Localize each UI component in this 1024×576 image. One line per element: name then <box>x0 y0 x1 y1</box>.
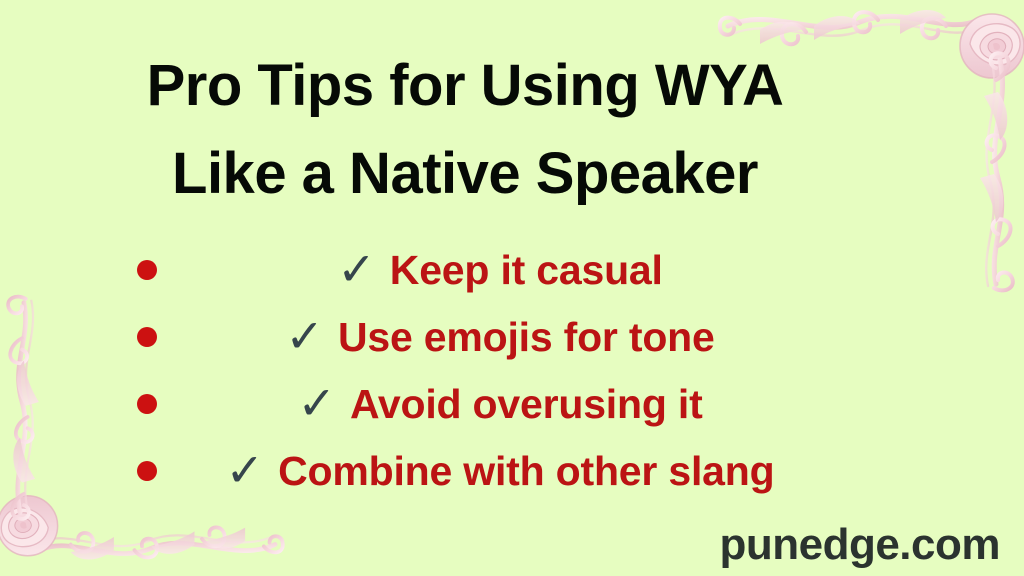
page-title-line-1: Pro Tips for Using WYA <box>0 42 930 130</box>
tips-list: ✓ Keep it casual ✓ Use emojis for tone ✓… <box>0 237 1000 505</box>
list-item: ✓ Combine with other slang <box>0 438 1000 505</box>
list-item-label: Use emojis for tone <box>338 314 715 361</box>
site-watermark: punedge.com <box>719 520 1000 570</box>
list-item-label: Avoid overusing it <box>350 381 703 428</box>
list-item: ✓ Keep it casual <box>0 237 1000 304</box>
bullet-dot-icon <box>137 461 159 483</box>
check-mark-icon: ✓ <box>226 447 265 493</box>
check-mark-icon: ✓ <box>297 380 336 426</box>
check-mark-icon: ✓ <box>285 313 324 359</box>
page-title: Pro Tips for Using WYA Like a Native Spe… <box>0 42 930 218</box>
list-item: ✓ Avoid overusing it <box>0 371 1000 438</box>
bullet-dot-icon <box>137 327 159 349</box>
list-item-label: Keep it casual <box>390 247 663 294</box>
bullet-dot-icon <box>137 394 159 416</box>
poster-canvas: Pro Tips for Using WYA Like a Native Spe… <box>0 0 1024 576</box>
bullet-dot-icon <box>137 260 159 282</box>
check-mark-icon: ✓ <box>337 246 376 292</box>
list-item: ✓ Use emojis for tone <box>0 304 1000 371</box>
list-item-label: Combine with other slang <box>278 448 774 495</box>
page-title-line-2: Like a Native Speaker <box>0 130 930 218</box>
